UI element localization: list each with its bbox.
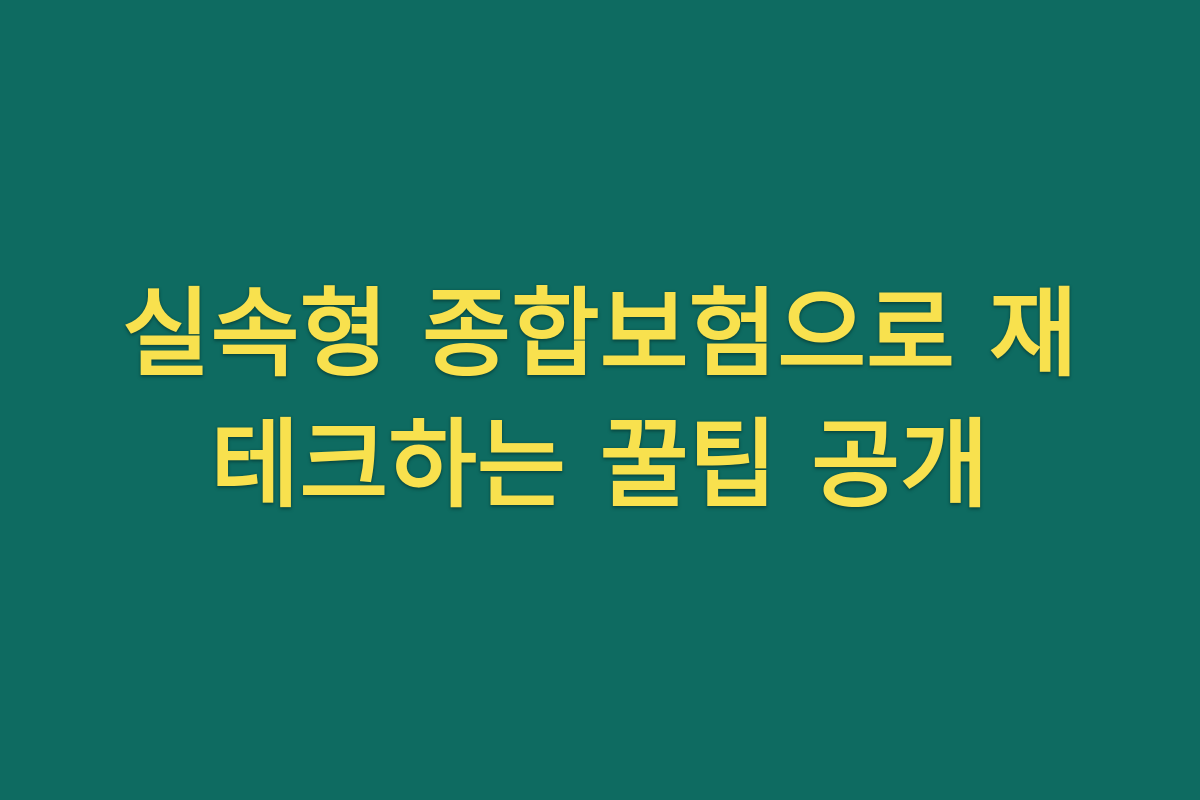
headline-line-1: 실속형 종합보험으로 재 [70,269,1130,400]
page-title: 실속형 종합보험으로 재 테크하는 꿀팁 공개 [70,269,1130,530]
headline-line-2: 테크하는 꿀팁 공개 [70,400,1130,531]
promo-banner: 실속형 종합보험으로 재 테크하는 꿀팁 공개 [0,0,1200,800]
